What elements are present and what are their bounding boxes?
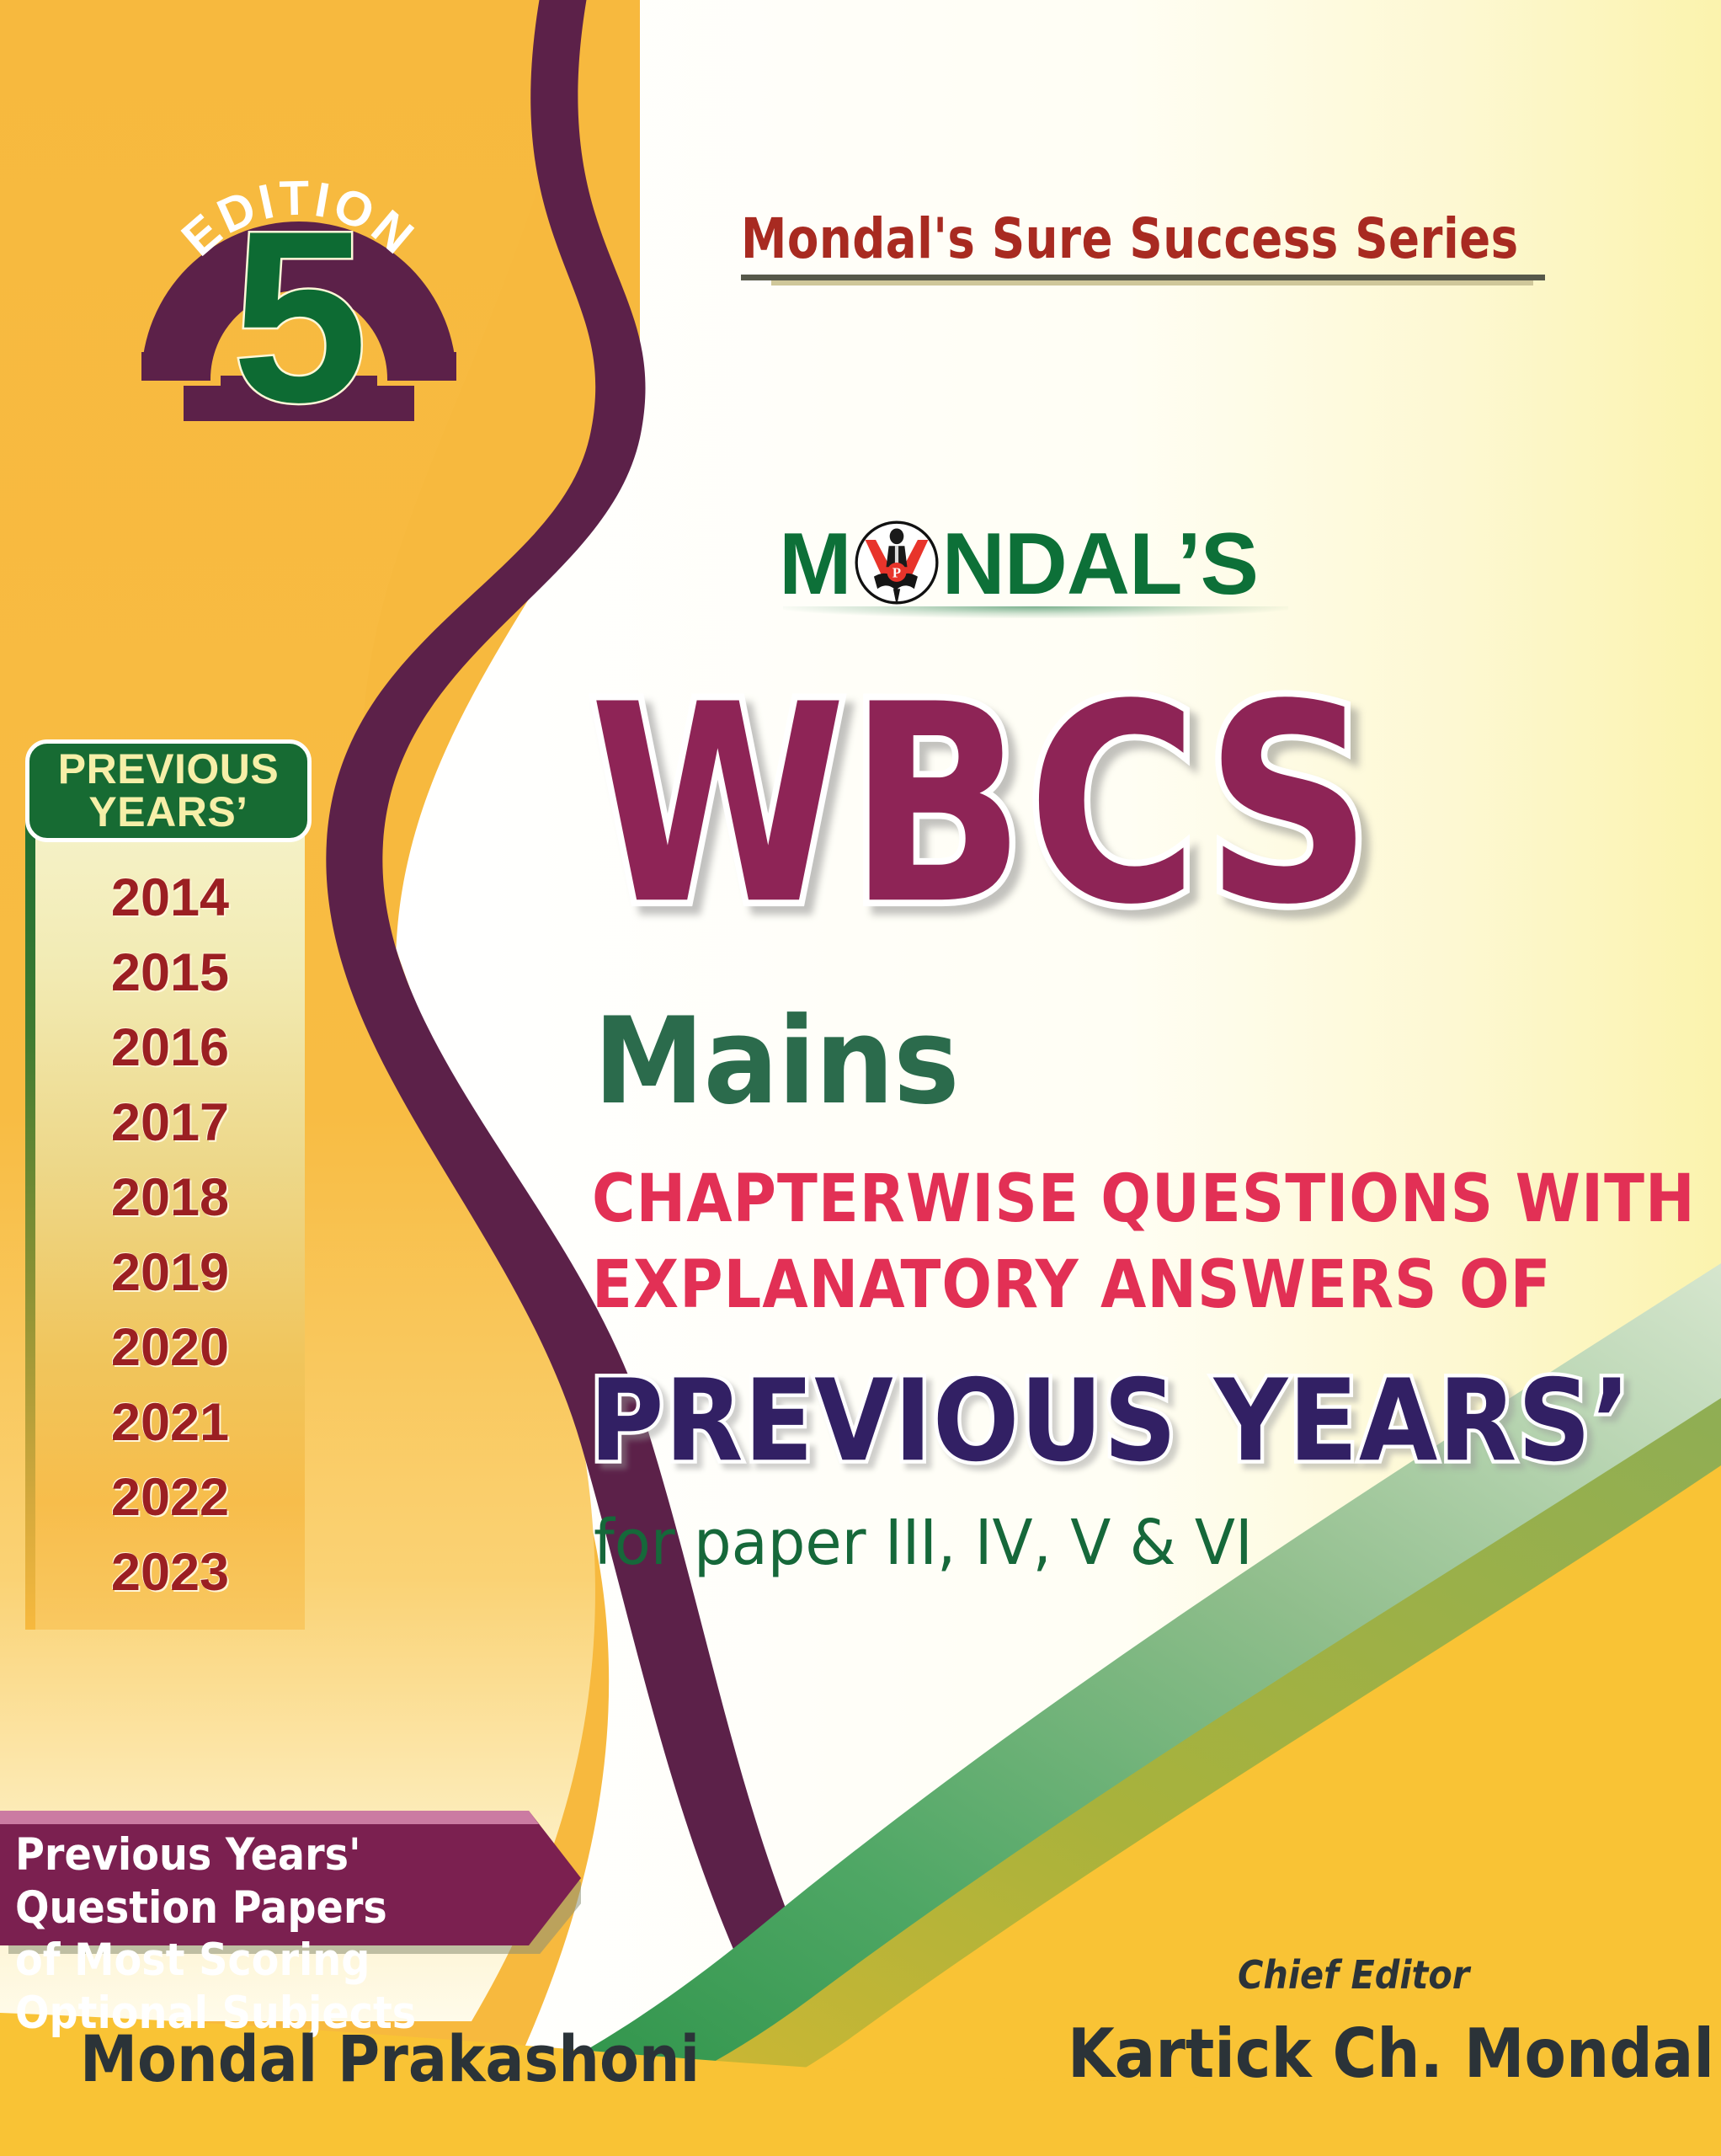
list-item: 2016 [44,1022,296,1097]
series-header: Mondal's Sure Success Series [741,206,1583,286]
series-title: Mondal's Sure Success Series [741,206,1516,271]
list-item: 2023 [44,1546,296,1621]
svg-text:P: P [892,565,901,581]
book-cover: EDITION 5 Mondal's Sure Success Series M… [0,0,1721,2156]
description-line-2: EXPLANATORY ANSWERS OF [592,1252,1552,1318]
publisher-name: Mondal Prakashoni [80,2021,700,2096]
list-item: 2021 [44,1396,296,1471]
series-rule-light [771,280,1533,286]
chief-editor-label: Chief Editor [1238,1952,1469,1998]
exam-title: WBCS [589,670,1374,943]
exam-stage: Mains [594,1002,959,1122]
previous-years-highlight: PREVIOUS YEARS’ [589,1364,1632,1477]
edition-number: 5 [232,180,367,453]
mondal-emblem-icon: P [853,519,940,606]
description-line-1: CHAPTERWISE QUESTIONS WITH [592,1166,1696,1232]
edition-badge: EDITION 5 [135,126,463,463]
years-list: 2014 2015 2016 2017 2018 2019 2020 2021 … [44,872,296,1621]
chief-editor-name: Kartick Ch. Mondal [1068,2015,1714,2093]
promo-banner-line-1: Previous Years' Question Papers [15,1829,554,1935]
list-item: 2015 [44,947,296,1022]
list-item: 2017 [44,1097,296,1171]
years-header-line-2: YEARS’ [88,791,248,835]
brand-prefix: M [779,520,851,608]
list-item: 2018 [44,1171,296,1246]
brand-suffix: NDAL’S [942,520,1258,608]
list-item: 2014 [44,872,296,947]
years-panel-header: PREVIOUS YEARS’ [25,739,312,842]
list-item: 2022 [44,1471,296,1546]
papers-line: for paper III, IV, V & VI [594,1512,1253,1574]
list-item: 2019 [44,1246,296,1321]
series-rule-dark [741,275,1545,280]
brand-lockup: M P NDAL’S [779,518,1258,611]
years-header-line-1: PREVIOUS [58,748,279,792]
promo-banner-text: Previous Years' Question Papers of Most … [15,1829,554,2040]
list-item: 2020 [44,1321,296,1396]
